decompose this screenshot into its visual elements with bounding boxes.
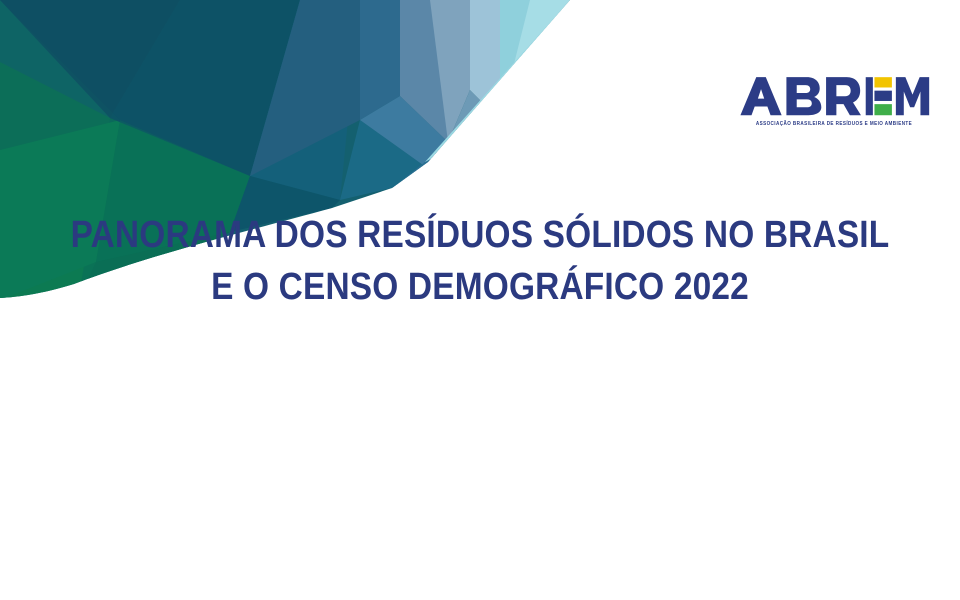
facet-blue-2: [360, 0, 430, 120]
facet-teal-2: [0, 0, 180, 118]
abrema-wordmark-icon: [738, 74, 930, 120]
facet-pale-1: [470, 0, 530, 120]
abrema-logo: ASSOCIAÇÃO BRASILEIRA DE RESÍDUOS E MEIO…: [736, 74, 932, 136]
facet-cyan-2: [500, 0, 570, 120]
title-line-1: PANORAMA DOS RESÍDUOS SÓLIDOS NO BRASIL: [58, 209, 903, 261]
facet-blue-5: [392, 142, 448, 188]
facet-teal-3: [250, 0, 360, 200]
facet-blue-3: [340, 120, 430, 200]
logo-tagline: ASSOCIAÇÃO BRASILEIRA DE RESÍDUOS E MEIO…: [756, 121, 912, 127]
logo-bar-yellow-icon: [874, 77, 891, 87]
facet-lightblue-3: [425, 90, 500, 162]
title-line-2: E O CENSO DEMOGRÁFICO 2022: [58, 261, 903, 313]
slide-canvas: ASSOCIAÇÃO BRASILEIRA DE RESÍDUOS E MEIO…: [0, 0, 960, 600]
slide-title: PANORAMA DOS RESÍDUOS SÓLIDOS NO BRASIL …: [0, 209, 960, 313]
facet-cyan-1: [500, 0, 566, 120]
facet-blue-4: [360, 96, 448, 170]
facet-teal-1: [110, 0, 300, 176]
facet-blue-1: [250, 0, 400, 176]
facet-green-2: [0, 0, 110, 118]
facet-cyan-3: [425, 0, 570, 162]
logo-bar-blue-icon: [874, 91, 891, 101]
facet-shade-1: [0, 0, 120, 150]
facet-lightblue-1: [400, 0, 470, 142]
facet-lightblue-2: [430, 0, 500, 142]
logo-bar-green-icon: [874, 104, 891, 115]
